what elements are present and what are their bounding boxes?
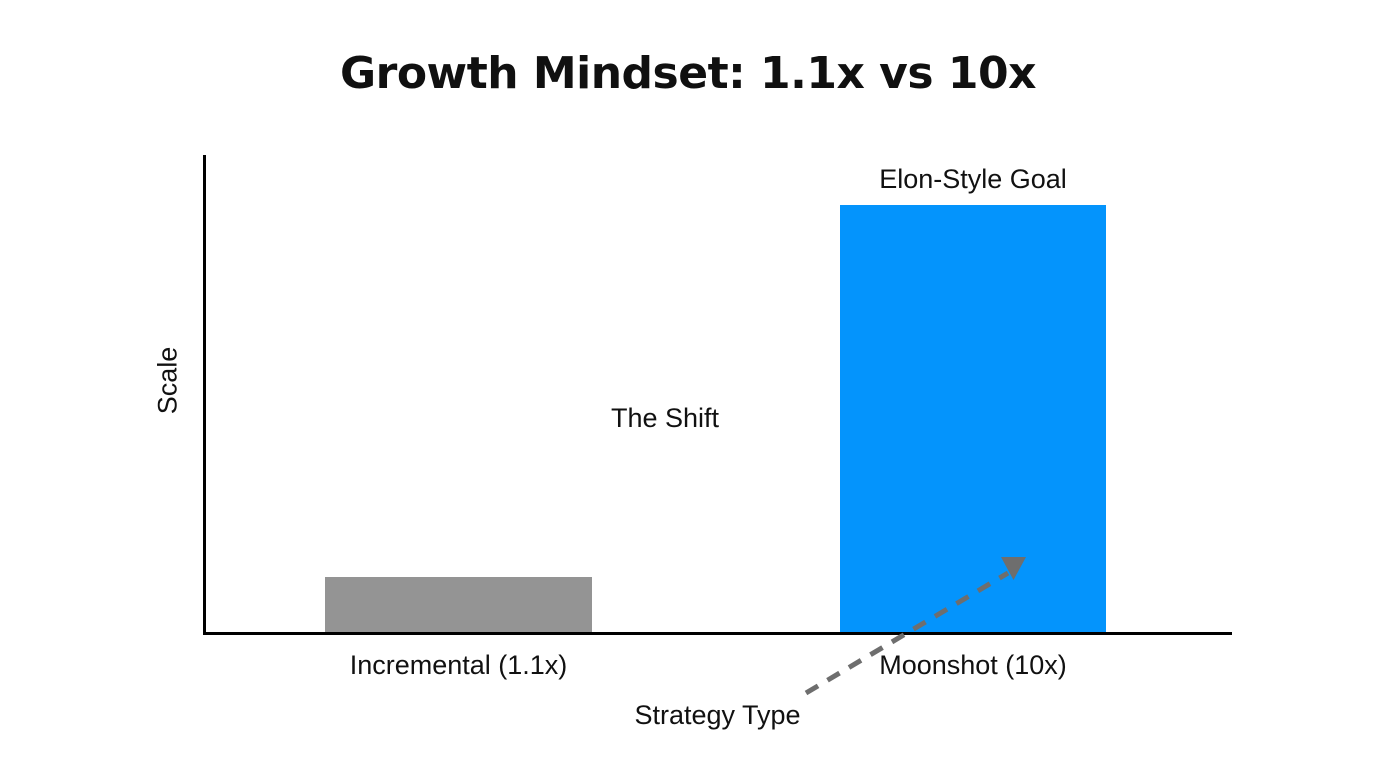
bar-incremental [325, 577, 592, 632]
tick-label-moonshot: Moonshot (10x) [840, 650, 1106, 681]
tick-label-incremental: Incremental (1.1x) [325, 650, 592, 681]
bar-annotation-moonshot: Elon-Style Goal [840, 164, 1106, 195]
y-axis-title: Scale [153, 325, 184, 437]
chart-title: Growth Mindset: 1.1x vs 10x [0, 48, 1376, 99]
y-axis-spine [203, 155, 206, 635]
chart-figure: Growth Mindset: 1.1x vs 10x Elon-Style G… [0, 0, 1376, 768]
shift-arrow-icon [583, 390, 1043, 590]
plot-area: Elon-Style Goal The Shift Incremental (1… [203, 155, 1232, 635]
x-axis-title: Strategy Type [203, 700, 1232, 731]
x-axis-spine [203, 632, 1232, 635]
